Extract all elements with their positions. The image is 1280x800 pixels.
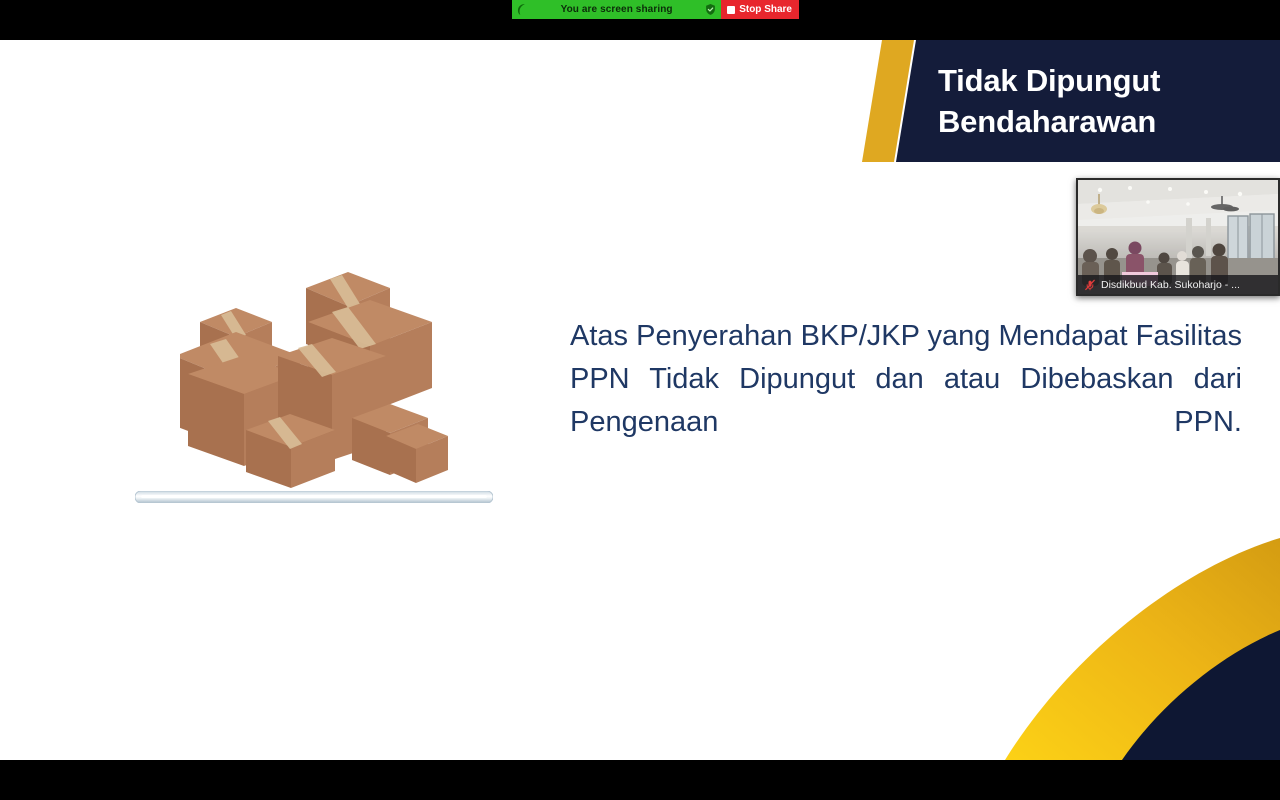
slide-title-banner: Tidak Dipungut Bendaharawan xyxy=(860,40,1280,162)
slide-body-paragraph: Atas Penyerahan BKP/JKP yang Mendapat Fa… xyxy=(570,315,1242,487)
participant-name-label: Disdikbud Kab. Sukoharjo - ... xyxy=(1101,279,1240,291)
shield-check-icon[interactable] xyxy=(704,3,717,16)
share-status-area: You are screen sharing xyxy=(512,0,721,19)
participant-video-thumbnail[interactable]: Disdikbud Kab. Sukoharjo - ... xyxy=(1076,178,1280,296)
video-name-bar: Disdikbud Kab. Sukoharjo - ... xyxy=(1078,275,1278,294)
stop-square-icon xyxy=(727,6,735,14)
stop-share-button[interactable]: Stop Share xyxy=(721,0,799,19)
screen-share-toolbar[interactable]: You are screen sharing Stop Share xyxy=(512,0,799,19)
screen-share-viewport: Tidak Dipungut Bendaharawan xyxy=(0,0,1280,800)
share-status-text: You are screen sharing xyxy=(534,4,699,15)
muted-microphone-icon xyxy=(1084,279,1096,291)
slide-title-line-1: Tidak Dipungut xyxy=(938,60,1280,101)
stop-share-label: Stop Share xyxy=(739,4,792,15)
slide-title-line-2: Bendaharawan xyxy=(938,101,1280,142)
zoom-share-icon xyxy=(516,3,529,16)
cardboard-boxes-illustration xyxy=(180,260,510,510)
shelf-bar-decoration xyxy=(135,491,493,503)
presentation-slide: Tidak Dipungut Bendaharawan xyxy=(0,40,1280,760)
letterbox-bottom-bar xyxy=(0,760,1280,800)
corner-swoosh-decoration xyxy=(950,530,1280,760)
